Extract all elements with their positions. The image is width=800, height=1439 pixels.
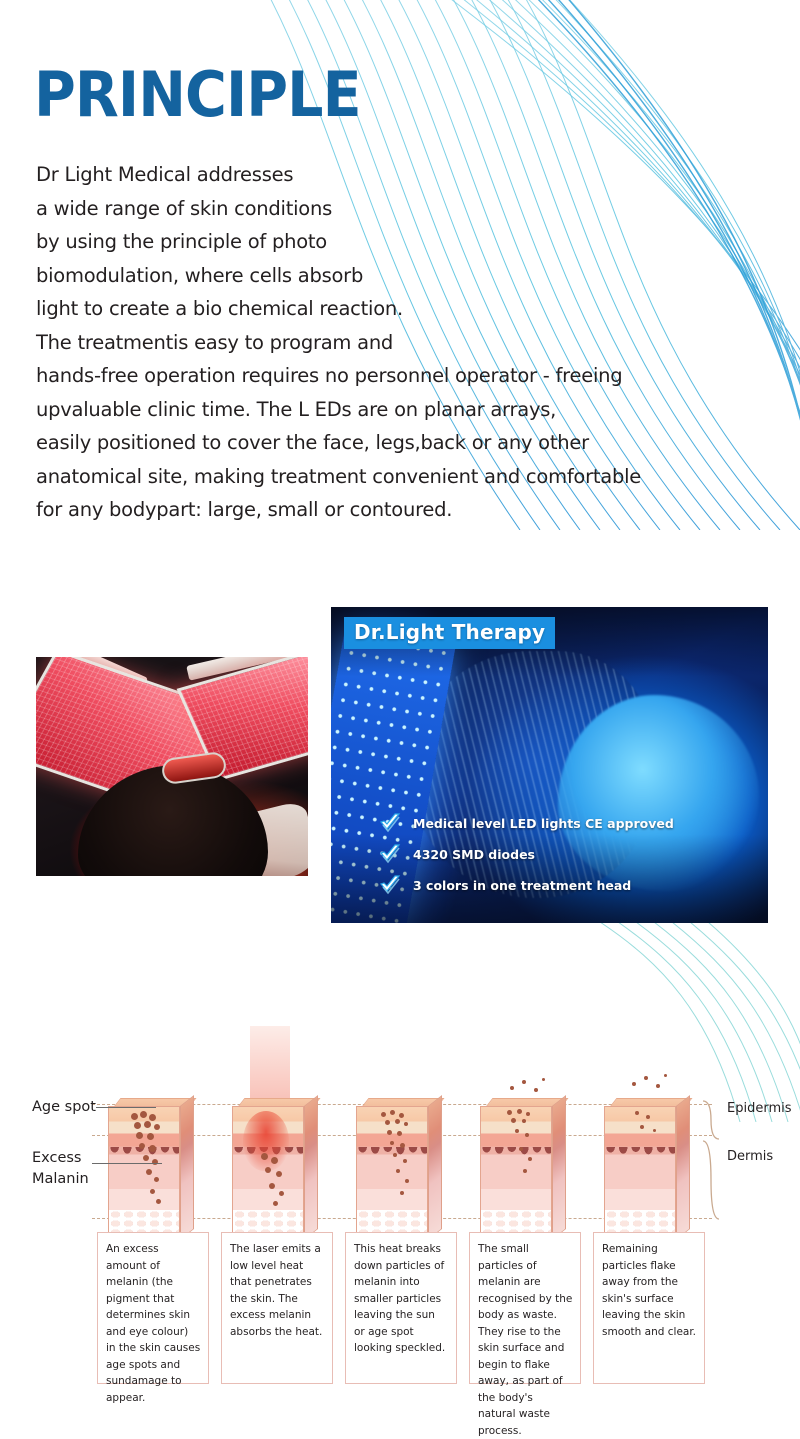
skin-cross-section	[108, 1106, 180, 1240]
skin-cross-section	[232, 1106, 304, 1240]
epidermis-label: Epidermis	[727, 1101, 792, 1116]
caption-step-2: The laser emits a low level heat that pe…	[221, 1232, 333, 1384]
skin-block-step-4	[480, 1098, 566, 1248]
skin-cross-section	[604, 1106, 676, 1240]
dermal-junction	[357, 1147, 427, 1163]
check-icon	[379, 875, 401, 895]
intro-paragraph: Dr Light Medical addresses a wide range …	[36, 158, 676, 527]
page-title: PRINCIPLE	[34, 64, 361, 126]
intro-line: a wide range of skin conditions	[36, 192, 676, 226]
age-spot-leader-line	[96, 1107, 156, 1108]
age-spot-label: Age spot	[32, 1097, 96, 1118]
feature-label: 3 colors in one treatment head	[413, 878, 631, 893]
excess-malanin-label-line1: Excess	[32, 1148, 89, 1169]
excess-malanin-leader-line	[92, 1163, 162, 1164]
feature-label: Medical level LED lights CE approved	[413, 816, 674, 831]
check-icon	[379, 844, 401, 864]
caption-step-5: Remaining particles flake away from the …	[593, 1232, 705, 1384]
skin-block-step-5	[604, 1098, 690, 1248]
intro-line: for any bodypart: large, small or contou…	[36, 493, 676, 527]
feature-item: 3 colors in one treatment head	[379, 875, 674, 895]
dermal-junction	[481, 1147, 551, 1163]
skin-cross-section	[356, 1106, 428, 1240]
intro-line: by using the principle of photo	[36, 225, 676, 259]
intro-line: hands-free operation requires no personn…	[36, 359, 676, 393]
feature-list: Medical level LED lights CE approved 432…	[379, 813, 674, 895]
caption-step-4: The small particles of melanin are recog…	[469, 1232, 581, 1384]
intro-line: biomodulation, where cells absorb	[36, 259, 676, 293]
epidermis-bracket	[700, 1100, 722, 1140]
skin-side	[180, 1095, 194, 1240]
skin-block-step-1	[108, 1098, 194, 1248]
skin-cross-section	[480, 1106, 552, 1240]
intro-line: The treatmentis easy to program and	[36, 326, 676, 360]
excess-malanin-label: Excess Malanin	[32, 1148, 89, 1190]
excess-malanin-label-line2: Malanin	[32, 1169, 89, 1190]
skin-side	[304, 1095, 318, 1240]
decorative-wave-bottom	[590, 922, 800, 1122]
feature-item: 4320 SMD diodes	[379, 844, 674, 864]
intro-line: easily positioned to cover the face, leg…	[36, 426, 676, 460]
feature-item: Medical level LED lights CE approved	[379, 813, 674, 833]
dermal-junction	[605, 1147, 675, 1163]
intro-line: anatomical site, making treatment conven…	[36, 460, 676, 494]
feature-label: 4320 SMD diodes	[413, 847, 535, 862]
caption-step-1: An excess amount of melanin (the pigment…	[97, 1232, 209, 1384]
therapy-badge: Dr.Light Therapy	[344, 617, 555, 649]
dermis-label: Dermis	[727, 1149, 773, 1164]
caption-step-3: This heat breaks down particles of melan…	[345, 1232, 457, 1384]
dermis-bracket	[700, 1140, 722, 1220]
skin-side	[676, 1095, 690, 1240]
skin-side	[552, 1095, 566, 1240]
intro-line: upvaluable clinic time. The L EDs are on…	[36, 393, 676, 427]
heat-zone	[243, 1111, 289, 1171]
check-icon	[379, 813, 401, 833]
intro-line: light to create a bio chemical reaction.	[36, 292, 676, 326]
blue-led-therapy-photo: Dr.Light Therapy Medical level LED light…	[331, 607, 768, 923]
skin-side	[428, 1095, 442, 1240]
skin-block-step-3	[356, 1098, 442, 1248]
intro-line: Dr Light Medical addresses	[36, 158, 676, 192]
skin-block-step-2	[232, 1098, 318, 1248]
red-led-therapy-photo	[36, 657, 308, 876]
